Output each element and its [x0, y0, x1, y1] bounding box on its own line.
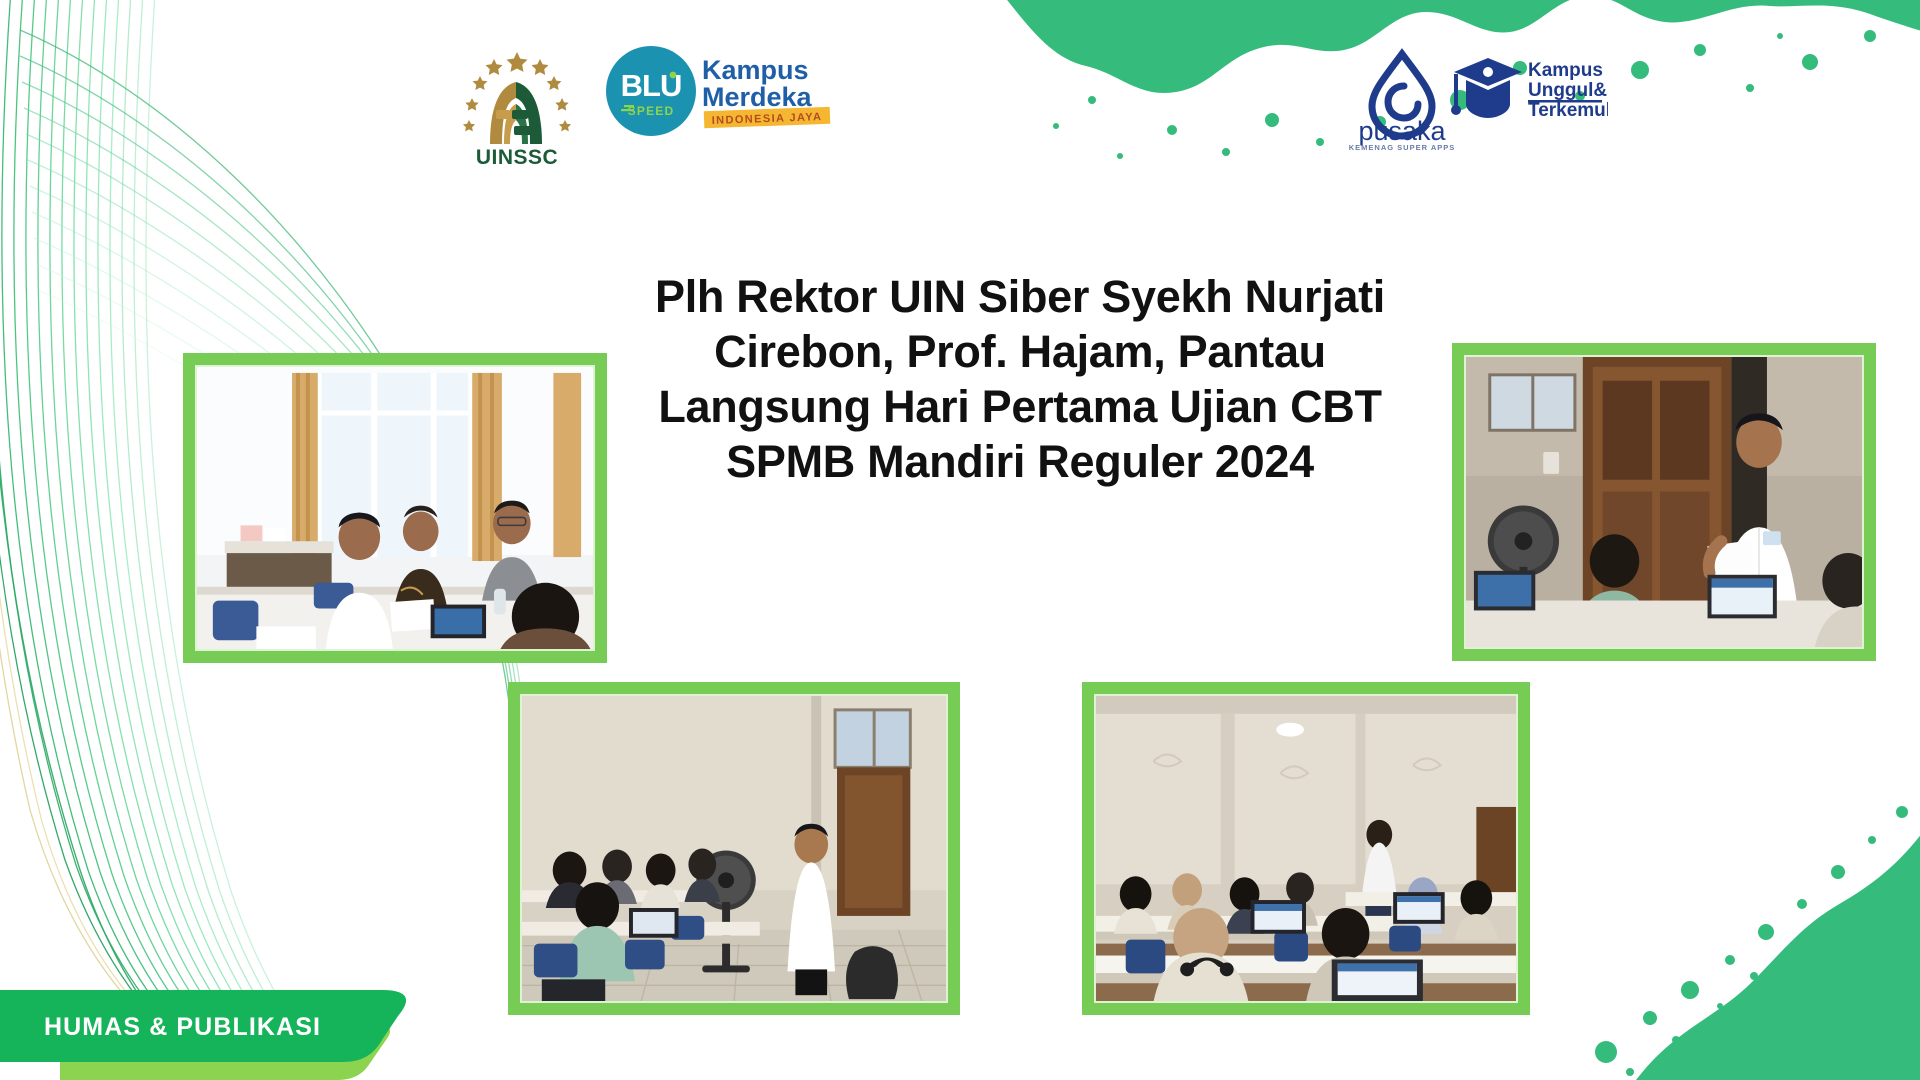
kampus-merdeka-logo: Kampus Merdeka INDONESIA JAYA: [700, 48, 840, 138]
photo-frame-meeting-room: [183, 353, 607, 663]
ku-line1: Kampus: [1528, 60, 1603, 81]
pusaka-subtext: KEMENAG SUPER APPS: [1349, 143, 1456, 152]
km-line2: Merdeka: [702, 82, 813, 112]
graduation-cap-icon: [1451, 58, 1522, 118]
photo-image-standing-man: [1464, 355, 1864, 649]
headline-line-1: Plh Rektor UIN Siber Syekh Nurjati: [640, 270, 1400, 325]
ku-line2: Unggul&: [1528, 80, 1607, 101]
logo-row: UINSSC BLU SPEED Kampus Merdeka INDONESI…: [0, 0, 1920, 180]
km-line1: Kampus: [702, 55, 809, 85]
pusaka-logo: pusaka KEMENAG SUPER APPS: [1342, 42, 1462, 152]
kampus-unggul-terkemuka-logo: Kampus Unggul& Terkemuka: [1448, 42, 1608, 142]
photo-image-exam-room-2: [1094, 694, 1518, 1003]
pusaka-wordmark: pusaka: [1358, 116, 1446, 146]
photo-frame-exam-room-1: [508, 682, 960, 1015]
poster-canvas: UINSSC BLU SPEED Kampus Merdeka INDONESI…: [0, 0, 1920, 1080]
photo-image-exam-room-1: [520, 694, 948, 1003]
blu-speed-logo: BLU SPEED: [602, 42, 700, 140]
headline-line-3: Langsung Hari Pertama Ujian CBT: [640, 380, 1400, 435]
banner-label: HUMAS & PUBLIKASI: [44, 1013, 321, 1042]
photo-image-meeting-room: [195, 365, 595, 651]
headline: Plh Rektor UIN Siber Syekh Nurjati Cireb…: [640, 270, 1400, 490]
photo-frame-exam-room-2: [1082, 682, 1530, 1015]
headline-line-4: SPMB Mandiri Reguler 2024: [640, 435, 1400, 490]
headline-line-2: Cirebon, Prof. Hajam, Pantau: [640, 325, 1400, 380]
green-splash-bottom: [1540, 700, 1920, 1080]
photo-frame-standing-man: [1452, 343, 1876, 661]
ku-line3: Terkemuka: [1528, 100, 1608, 121]
uinssc-wordmark: UINSSC: [476, 146, 558, 168]
speed-wordmark: SPEED: [628, 104, 675, 118]
uinssc-logo: UINSSC: [452, 40, 582, 168]
